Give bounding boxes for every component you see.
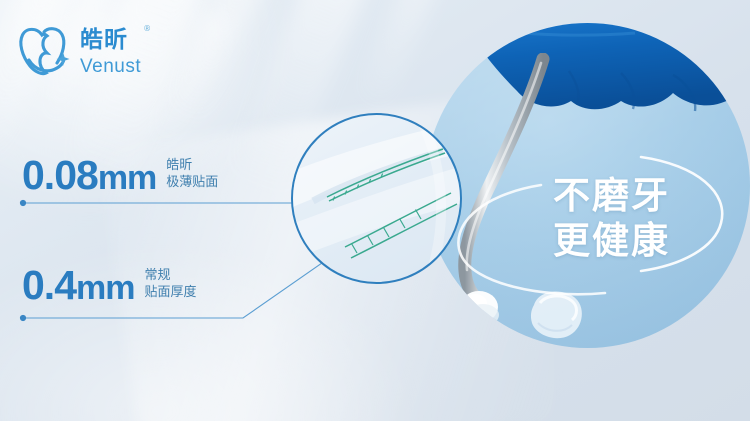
spec-unit: mm xyxy=(76,269,134,307)
spec-unit: mm xyxy=(98,159,156,197)
light-streak xyxy=(165,0,287,128)
brand-name-cn-text: 皓昕 xyxy=(80,27,128,53)
leader-dot xyxy=(20,315,26,321)
leader-dot xyxy=(20,200,26,206)
spec-value: 0.4mm xyxy=(22,266,134,305)
spec-caption: 常规 贴面厚度 xyxy=(144,267,196,305)
spec-ultra-thin: 0.08mm 皓昕 极薄贴面 xyxy=(22,156,218,195)
spec-value: 0.08mm xyxy=(22,156,156,195)
brand-name-cn: 皓昕 ® xyxy=(80,29,141,52)
headline-text: 不磨牙 更健康 xyxy=(553,173,670,263)
spec-regular: 0.4mm 常规 贴面厚度 xyxy=(22,266,196,305)
product-photo-circle: 不磨牙 更健康 xyxy=(425,23,750,348)
spec-number: 0.4 xyxy=(22,262,76,308)
registered-trademark-icon: ® xyxy=(143,25,152,33)
spec-caption: 皓昕 极薄贴面 xyxy=(166,157,218,195)
poster-canvas: 皓昕 ® Venust xyxy=(0,0,750,421)
light-streak xyxy=(142,10,233,159)
magnifier-content xyxy=(293,115,460,282)
brand-name-en: Venust xyxy=(80,57,141,76)
brand-logo: 皓昕 ® Venust xyxy=(16,26,141,78)
spec-number: 0.08 xyxy=(22,152,98,198)
tooth-heart-sparkle-icon xyxy=(16,26,72,78)
veneer-thickness-magnifier xyxy=(291,113,462,284)
brand-wordmark: 皓昕 ® Venust xyxy=(80,29,141,76)
